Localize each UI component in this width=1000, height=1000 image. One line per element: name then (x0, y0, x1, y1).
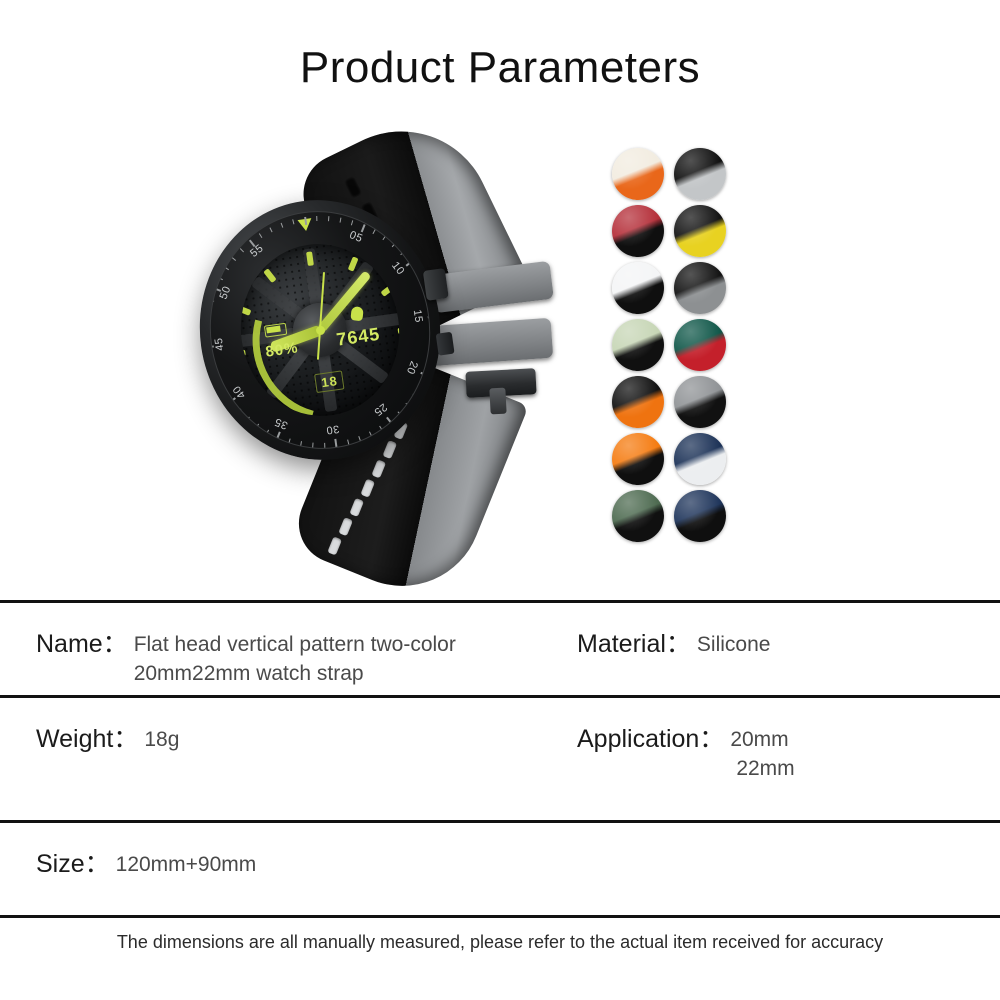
bezel-tick (324, 443, 325, 448)
bezel-tick (206, 345, 214, 348)
spec-value-line: 20mm (730, 726, 794, 755)
bezel-numeral: 45 (213, 337, 227, 352)
bezel-tick (347, 439, 349, 444)
color-swatch-red-black[interactable] (612, 205, 664, 257)
strap-hole (327, 536, 342, 555)
bezel-tick (406, 260, 414, 267)
strap-hole (338, 517, 353, 536)
bezel-tick (334, 439, 337, 447)
bezel-tick (386, 417, 393, 425)
dial-date-value: 18 (314, 370, 345, 393)
strap-hole (371, 459, 386, 478)
bezel-tick (237, 409, 241, 413)
bezel-tick (328, 216, 329, 221)
spec-cell-material: Material： Silicone (555, 603, 1000, 695)
bezel-tick (428, 303, 433, 305)
bezel-tick (413, 394, 418, 398)
bezel-tick (222, 390, 227, 393)
bezel-tick (208, 358, 213, 360)
spec-value-application: 20mm 22mm (724, 724, 794, 784)
spec-cell-application: Application： 20mm 22mm (555, 698, 1000, 820)
footprint-icon (350, 306, 363, 321)
color-swatch-orange-black[interactable] (612, 433, 664, 485)
bezel-tick (430, 351, 435, 353)
bezel-tick (316, 216, 317, 221)
bezel-tick (419, 384, 424, 387)
bezel-tick (269, 227, 272, 232)
bezel-numeral: 15 (411, 309, 425, 324)
strap-hole (349, 498, 364, 517)
color-swatch-black-grey[interactable] (674, 262, 726, 314)
spec-label-weight: Weight： (36, 724, 138, 755)
product-hero: 0510152025303540455055 80% 7645 18 (0, 130, 1000, 590)
bezel-tick (405, 403, 409, 407)
spec-value-line: 20mm22mm watch strap (134, 660, 456, 689)
spec-value-line: 120mm+90mm (116, 851, 257, 880)
spec-value-name: Flat head vertical pattern two-color 20m… (128, 629, 456, 689)
spec-value-line: Flat head vertical pattern two-color (134, 631, 456, 660)
color-swatch-black-silver[interactable] (674, 148, 726, 200)
bezel-tick (369, 431, 372, 436)
color-swatch-navy-black[interactable] (674, 490, 726, 542)
bezel-tick (205, 323, 210, 324)
spec-value-weight: 18g (138, 724, 179, 755)
strap-hole (360, 479, 375, 498)
bezel-tick (206, 311, 211, 313)
spec-cell-name: Name： Flat head vertical pattern two-col… (0, 603, 555, 695)
bezel-tick (255, 424, 259, 429)
footer-note: The dimensions are all manually measured… (0, 932, 1000, 953)
bezel-tick (358, 436, 361, 441)
bezel-tick (276, 431, 281, 439)
table-row: Size： 120mm+90mm (0, 823, 1000, 915)
bezel-numeral: 10 (389, 260, 407, 278)
bezel-tick (428, 315, 436, 318)
color-swatch-sage-black[interactable] (612, 319, 664, 371)
bezel-tick (392, 243, 396, 247)
color-swatch-black-orange[interactable] (612, 376, 664, 428)
bezel-tick (292, 219, 294, 224)
bezel-tick (224, 267, 229, 271)
spec-cell-empty (555, 823, 1000, 915)
bezel-tick (205, 335, 210, 336)
watch-dial: 80% 7645 18 (230, 234, 410, 426)
spec-label-name: Name： (36, 629, 128, 660)
spec-label-size: Size： (36, 849, 110, 880)
bezel-tick (312, 443, 313, 448)
color-swatch-grid (612, 148, 732, 542)
dial-hub-dot (315, 325, 325, 335)
bezel-tick (379, 426, 382, 431)
bezel-tick (232, 257, 236, 261)
spec-value-size: 120mm+90mm (110, 849, 257, 880)
watch-pusher (436, 332, 455, 356)
bezel-tick (266, 430, 269, 435)
spec-label-application: Application： (577, 724, 724, 755)
bezel-tick (420, 372, 428, 377)
color-swatch-green-red[interactable] (674, 319, 726, 371)
spec-value-line: Silicone (697, 631, 771, 660)
bezel-tick (415, 270, 420, 273)
bezel-tick (400, 251, 404, 255)
spec-cell-weight: Weight： 18g (0, 698, 555, 820)
bezel-tick (288, 438, 290, 443)
watch-crown (423, 268, 449, 301)
bezel-tick (228, 397, 236, 404)
bezel-numeral: 50 (218, 284, 234, 301)
spec-value-line: 22mm (730, 755, 794, 784)
page-title: Product Parameters (0, 44, 1000, 92)
bezel-numeral: 30 (325, 422, 340, 436)
color-swatch-army-green-black[interactable] (612, 490, 664, 542)
bezel-tick (351, 220, 353, 225)
spec-label-material: Material： (577, 629, 691, 660)
color-swatch-cream-orange[interactable] (612, 148, 664, 200)
color-swatch-black-yellow[interactable] (674, 205, 726, 257)
spec-cell-size: Size： 120mm+90mm (0, 823, 555, 915)
color-swatch-white-black[interactable] (612, 262, 664, 314)
spec-table: Name： Flat head vertical pattern two-col… (0, 600, 1000, 918)
bezel-tick (216, 380, 221, 383)
buckle-tongue (489, 388, 506, 415)
bezel-tick (340, 218, 342, 223)
table-row: Weight： 18g Application： 20mm 22mm (0, 698, 1000, 820)
bezel-tick (259, 233, 262, 238)
spec-value-material: Silicone (691, 629, 771, 660)
spec-value-line: 18g (144, 726, 179, 755)
strap-hole (382, 440, 397, 459)
bezel-tick (246, 417, 250, 421)
strap-slot (344, 176, 363, 199)
bezel-tick (427, 362, 432, 364)
color-swatch-grey-black[interactable] (674, 376, 726, 428)
table-row: Name： Flat head vertical pattern two-col… (0, 603, 1000, 695)
bezel-tick (372, 229, 375, 234)
bezel-tick (300, 441, 302, 446)
dial-hour-marker (231, 350, 246, 358)
bezel-numeral: 55 (248, 243, 266, 261)
bezel-tick (240, 248, 244, 252)
bezel-tick (361, 224, 366, 232)
bezel-tick (212, 369, 217, 372)
dial-hour-marker (248, 387, 263, 400)
bezel-tick (398, 411, 402, 415)
bezel-tick (432, 327, 437, 328)
bezel-tick (209, 299, 214, 301)
table-rule (0, 915, 1000, 918)
bezel-tick (218, 277, 223, 280)
bezel-tick (382, 235, 386, 240)
bezel-tick (281, 223, 284, 228)
color-swatch-navy-white[interactable] (674, 433, 726, 485)
watch-product-image: 0510152025303540455055 80% 7645 18 (180, 140, 600, 580)
